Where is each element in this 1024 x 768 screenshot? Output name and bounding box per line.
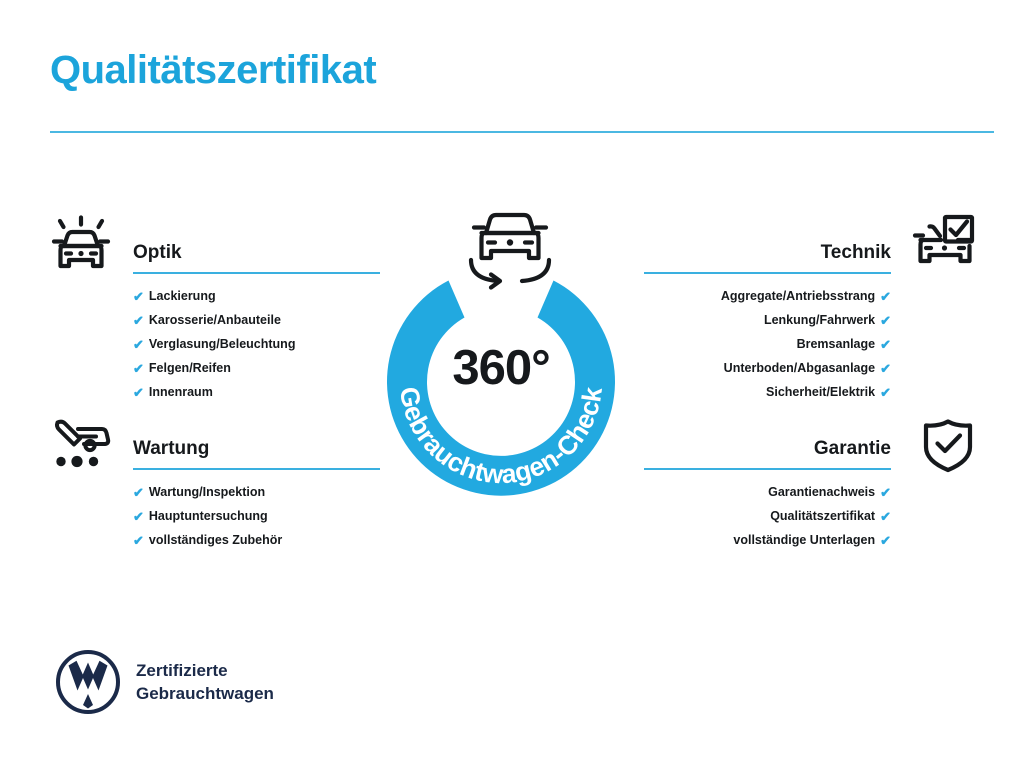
list-item: ✔Verglasung/Beleuchtung (133, 332, 380, 356)
list-item-label: Sicherheit/Elektrik (766, 380, 875, 404)
section-wartung: Wartung ✔Wartung/Inspektion ✔Hauptunters… (133, 436, 380, 552)
check-icon: ✔ (133, 362, 144, 375)
title-divider (50, 131, 994, 133)
list-item-label: vollständige Unterlagen (733, 528, 875, 552)
section-divider-garantie (644, 468, 891, 470)
footer-line-2: Gebrauchtwagen (136, 682, 274, 705)
section-header-wartung: Wartung (133, 436, 380, 470)
check-icon: ✔ (880, 314, 891, 327)
section-header-garantie: Garantie (644, 436, 891, 470)
list-item-label: Innenraum (149, 380, 213, 404)
list-item: ✔Hauptuntersuchung (133, 504, 380, 528)
section-optik: Optik ✔Lackierung ✔Karosserie/Anbauteile… (133, 240, 380, 404)
check-icon: ✔ (880, 486, 891, 499)
list-item-label: Wartung/Inspektion (149, 480, 265, 504)
list-item-label: Verglasung/Beleuchtung (149, 332, 296, 356)
list-item-label: Qualitätszertifikat (770, 504, 875, 528)
list-item: ✔Wartung/Inspektion (133, 480, 380, 504)
check-icon: ✔ (133, 534, 144, 547)
list-item-label: Garantienachweis (768, 480, 875, 504)
list-item-label: Aggregate/Antriebsstrang (721, 284, 875, 308)
list-item: ✔Innenraum (133, 380, 380, 404)
list-item-label: vollständiges Zubehör (149, 528, 282, 552)
list-item: ✔Felgen/Reifen (133, 356, 380, 380)
checklist-optik: ✔Lackierung ✔Karosserie/Anbauteile ✔Verg… (133, 284, 380, 404)
car-shine-icon (48, 212, 114, 278)
check-icon: ✔ (133, 314, 144, 327)
list-item: Sicherheit/Elektrik✔ (644, 380, 891, 404)
volkswagen-logo (55, 649, 121, 715)
shield-check-icon (915, 412, 981, 478)
gebrauchtwagen-check-badge: Gebrauchtwagen-Check 360° (377, 258, 625, 506)
section-title-optik: Optik (133, 240, 380, 266)
checklist-wartung: ✔Wartung/Inspektion ✔Hauptuntersuchung ✔… (133, 480, 380, 552)
list-item: Lenkung/Fahrwerk✔ (644, 308, 891, 332)
list-item: vollständige Unterlagen✔ (644, 528, 891, 552)
list-item: ✔Lackierung (133, 284, 380, 308)
list-item-label: Karosserie/Anbauteile (149, 308, 281, 332)
check-icon: ✔ (880, 510, 891, 523)
list-item-label: Lenkung/Fahrwerk (764, 308, 875, 332)
list-item-label: Felgen/Reifen (149, 356, 231, 380)
check-icon: ✔ (133, 486, 144, 499)
section-title-garantie: Garantie (644, 436, 891, 462)
check-icon: ✔ (880, 362, 891, 375)
section-garantie: Garantie Garantienachweis✔ Qualitätszert… (644, 436, 891, 552)
list-item: Garantienachweis✔ (644, 480, 891, 504)
section-divider-technik (644, 272, 891, 274)
list-item: Aggregate/Antriebsstrang✔ (644, 284, 891, 308)
checklist-garantie: Garantienachweis✔ Qualitätszertifikat✔ v… (644, 480, 891, 552)
check-icon: ✔ (880, 386, 891, 399)
badge-number: 360° (377, 344, 625, 393)
footer-line-1: Zertifizierte (136, 659, 274, 682)
section-divider-optik (133, 272, 380, 274)
list-item: Bremsanlage✔ (644, 332, 891, 356)
svg-text:Gebrauchtwagen-Check: Gebrauchtwagen-Check (394, 385, 608, 490)
check-icon: ✔ (133, 338, 144, 351)
section-divider-wartung (133, 468, 380, 470)
check-icon: ✔ (133, 510, 144, 523)
section-technik: Technik Aggregate/Antriebsstrang✔ Lenkun… (644, 240, 891, 404)
car-checkbox-icon (912, 212, 978, 278)
list-item: ✔vollständiges Zubehör (133, 528, 380, 552)
wrench-car-service-icon (48, 412, 114, 478)
list-item: ✔Karosserie/Anbauteile (133, 308, 380, 332)
list-item-label: Hauptuntersuchung (149, 504, 268, 528)
checklist-technik: Aggregate/Antriebsstrang✔ Lenkung/Fahrwe… (644, 284, 891, 404)
list-item-label: Lackierung (149, 284, 216, 308)
section-title-technik: Technik (644, 240, 891, 266)
section-header-technik: Technik (644, 240, 891, 274)
section-header-optik: Optik (133, 240, 380, 274)
section-title-wartung: Wartung (133, 436, 380, 462)
list-item: Qualitätszertifikat✔ (644, 504, 891, 528)
check-icon: ✔ (880, 290, 891, 303)
check-icon: ✔ (880, 534, 891, 547)
check-icon: ✔ (880, 338, 891, 351)
check-icon: ✔ (133, 386, 144, 399)
list-item-label: Unterboden/Abgasanlage (724, 356, 875, 380)
list-item-label: Bremsanlage (797, 332, 876, 356)
car-rotation-icon (455, 203, 565, 295)
page-title: Qualitätszertifikat (50, 50, 376, 90)
check-icon: ✔ (133, 290, 144, 303)
list-item: Unterboden/Abgasanlage✔ (644, 356, 891, 380)
footer-text: Zertifizierte Gebrauchtwagen (136, 659, 274, 705)
